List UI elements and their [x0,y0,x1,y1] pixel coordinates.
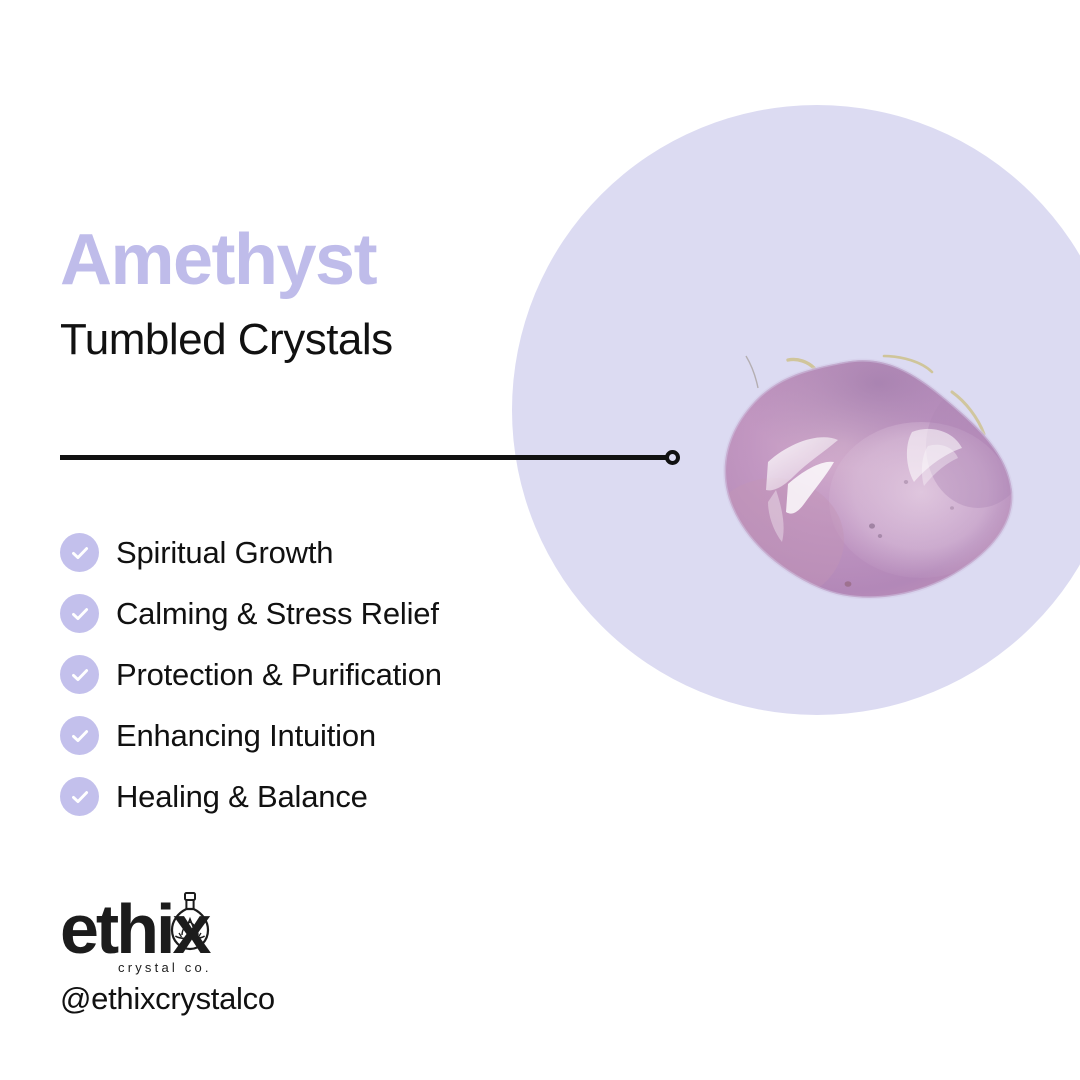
logo-mark: ethix crystal co. [60,898,252,960]
list-item-label: Calming & Stress Relief [116,596,439,632]
product-image-amethyst-stone [716,350,1022,612]
page-title: Amethyst [60,224,376,296]
logo-tagline: crystal co. [118,960,212,975]
list-item: Protection & Purification [60,644,530,705]
list-item: Enhancing Intuition [60,705,530,766]
info-panel: Amethyst Tumbled Crystals Spiritual Grow… [0,0,560,1080]
list-item-label: Healing & Balance [116,779,368,815]
check-circle-icon [60,716,99,755]
list-item: Spiritual Growth [60,522,530,583]
list-item-label: Enhancing Intuition [116,718,376,754]
list-item: Calming & Stress Relief [60,583,530,644]
divider-endpoint-dot [665,450,680,465]
social-handle: @ethixcrystalco [60,981,275,1017]
benefits-list: Spiritual Growth Calming & Stress Relief… [60,522,530,827]
divider [60,450,680,466]
potion-flask-icon [168,892,212,952]
check-circle-icon [60,594,99,633]
divider-line [60,455,668,460]
check-circle-icon [60,533,99,572]
list-item-label: Spiritual Growth [116,535,333,571]
brand-logo: ethix crystal co. [60,898,252,960]
check-circle-icon [60,655,99,694]
check-circle-icon [60,777,99,816]
list-item-label: Protection & Purification [116,657,442,693]
list-item: Healing & Balance [60,766,530,827]
page-subtitle: Tumbled Crystals [60,318,393,362]
